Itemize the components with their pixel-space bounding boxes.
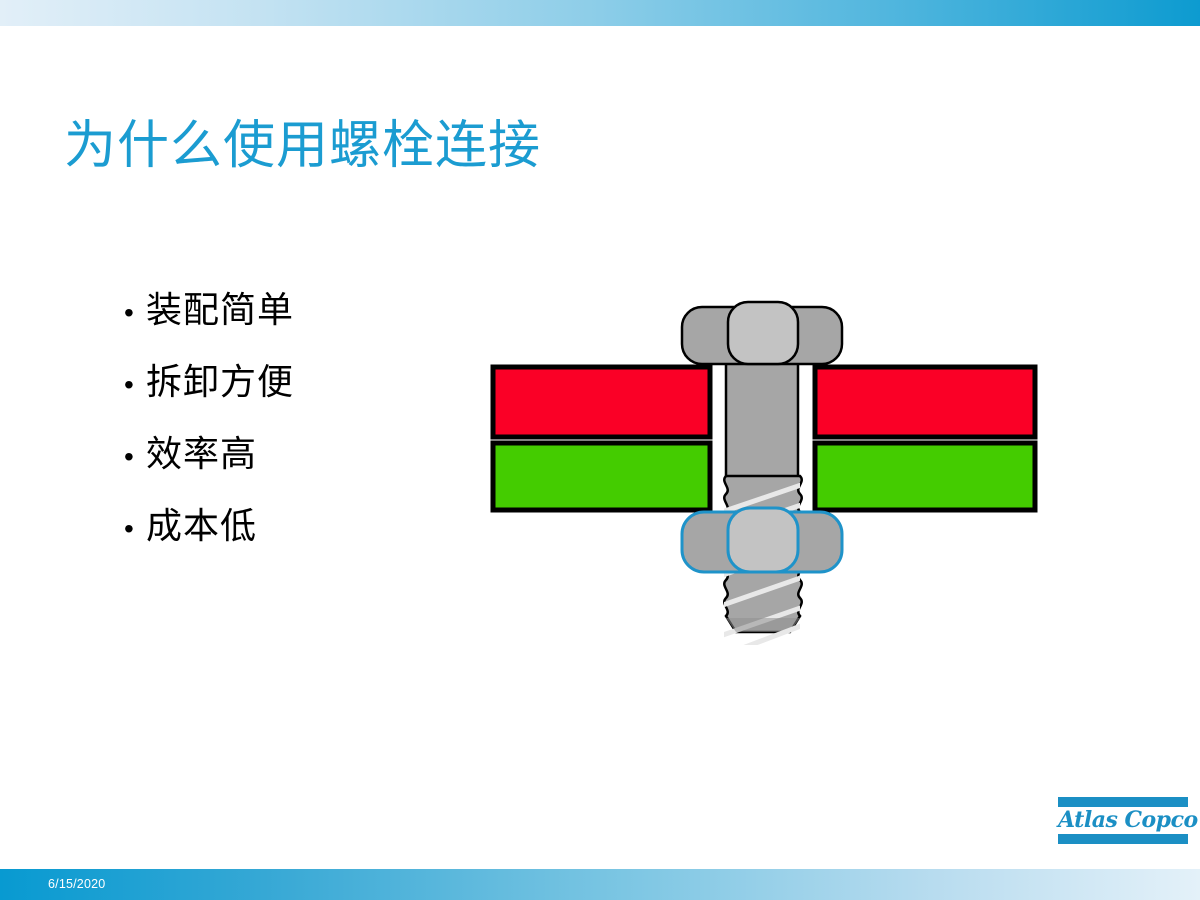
bullet-marker-icon: • <box>124 509 146 549</box>
upper-plate-right <box>815 367 1035 437</box>
logo-wordmark: Atlas Copco <box>1058 807 1188 834</box>
logo-bar-top <box>1058 797 1188 807</box>
bolt-head <box>682 302 842 364</box>
upper-plate-left <box>493 367 710 437</box>
slide-canvas: 为什么使用螺栓连接 • 装配简单 • 拆卸方便 • 效率高 • 成本低 <box>0 0 1200 900</box>
nut <box>682 508 842 572</box>
list-item: • 装配简单 <box>124 290 454 362</box>
lower-plate-right <box>815 443 1035 510</box>
page-title: 为什么使用螺栓连接 <box>64 114 541 178</box>
lower-plate-left <box>493 443 710 510</box>
footer-date: 6/15/2020 <box>48 877 105 891</box>
bullet-marker-icon: • <box>124 437 146 477</box>
bottom-accent-bar <box>0 869 1200 900</box>
bolted-joint-diagram <box>460 280 1080 660</box>
list-item: • 拆卸方便 <box>124 362 454 434</box>
bullet-marker-icon: • <box>124 293 146 333</box>
list-item: • 效率高 <box>124 434 454 506</box>
top-accent-bar <box>0 0 1200 26</box>
list-item-label: 效率高 <box>146 434 257 474</box>
list-item-label: 成本低 <box>146 506 257 546</box>
list-item: • 成本低 <box>124 506 454 578</box>
list-item-label: 拆卸方便 <box>146 362 294 402</box>
bullet-marker-icon: • <box>124 365 146 405</box>
atlas-copco-logo: Atlas Copco <box>1058 797 1188 844</box>
list-item-label: 装配简单 <box>146 290 294 330</box>
logo-bar-bottom <box>1058 834 1188 844</box>
bullet-list: • 装配简单 • 拆卸方便 • 效率高 • 成本低 <box>124 290 454 578</box>
